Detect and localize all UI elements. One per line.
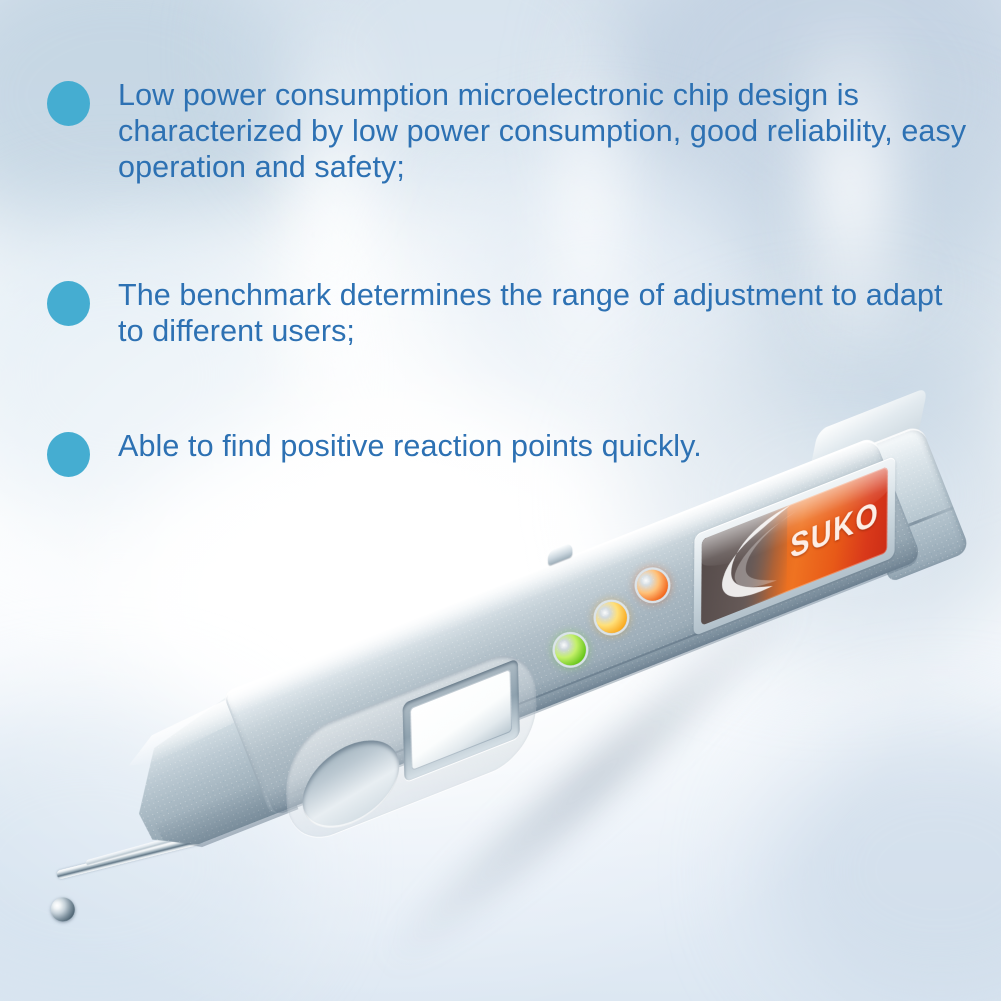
filled-circle-bullet-icon bbox=[47, 81, 90, 126]
filled-circle-bullet-icon bbox=[47, 432, 90, 477]
probe-ball-tip bbox=[47, 894, 78, 925]
feature-item: Low power consumption microelectronic ch… bbox=[47, 77, 968, 185]
product-feature-image: Low power consumption microelectronic ch… bbox=[0, 0, 1001, 1001]
filled-circle-bullet-icon bbox=[47, 281, 90, 326]
product-image-acupuncture-pen: SUKO bbox=[150, 498, 1001, 918]
feature-text: Low power consumption microelectronic ch… bbox=[118, 77, 968, 185]
